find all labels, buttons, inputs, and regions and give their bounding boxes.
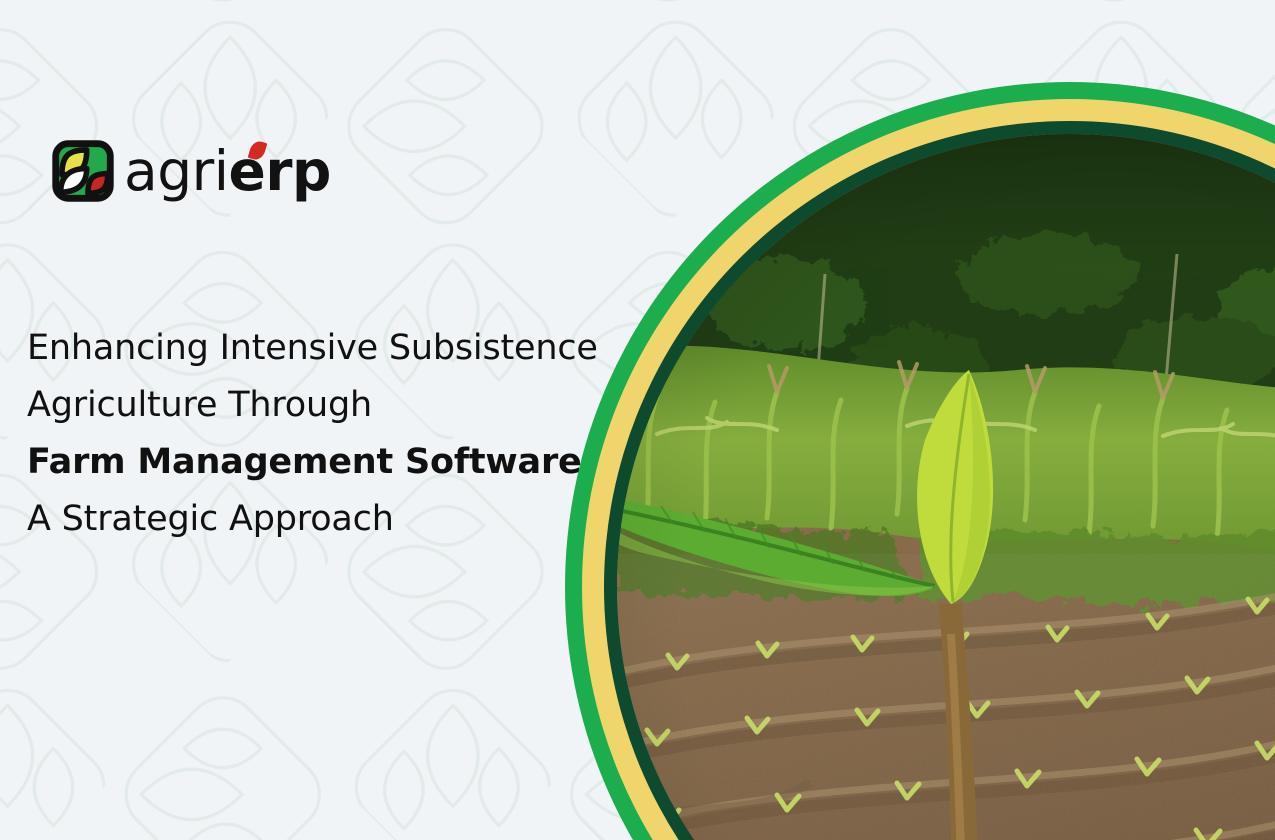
page-title: Enhancing Intensive Subsistence Agricult… xyxy=(27,320,647,548)
marketing-banner: agrierp Enhancing Intensive Subsistence … xyxy=(0,0,1275,840)
hero-image-ring-gold xyxy=(582,99,1275,840)
hero-image-clip xyxy=(617,134,1275,840)
agrierp-leaf-logo-icon xyxy=(52,140,114,202)
brand-logo[interactable]: agrierp xyxy=(52,140,331,202)
headline-line-2: Agriculture Through xyxy=(27,377,647,434)
headline-line-3: Farm Management Software: xyxy=(27,434,647,491)
hero-image-ring-dark xyxy=(604,121,1275,840)
wordmark-erp: erp xyxy=(229,144,331,199)
headline-line-4: A Strategic Approach xyxy=(27,491,647,548)
farm-field-photo xyxy=(617,134,1275,840)
brand-wordmark: agrierp xyxy=(124,144,331,199)
wordmark-agri: agri xyxy=(124,144,229,199)
hero-image-ring-outer xyxy=(565,82,1275,840)
headline-line-1: Enhancing Intensive Subsistence xyxy=(27,320,647,377)
